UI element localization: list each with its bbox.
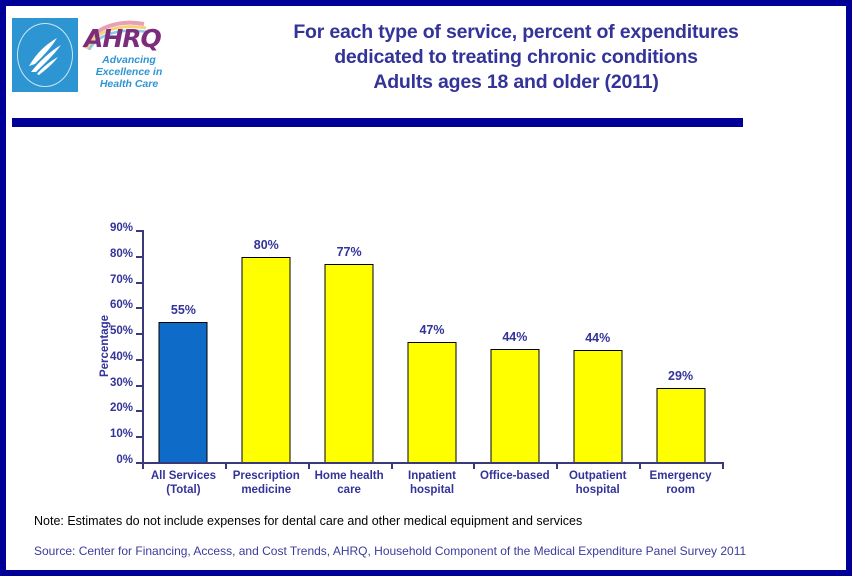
y-tick-label: 30% xyxy=(110,377,133,389)
bar-value-label: 77% xyxy=(337,245,362,259)
ahrq-wordmark: AHRQ Advancing Excellence in Health Care xyxy=(78,18,174,92)
x-tick-mark xyxy=(142,462,144,469)
y-tick-label: 50% xyxy=(110,325,133,337)
bar-value-label: 44% xyxy=(585,331,610,345)
note-text: Note: Estimates do not include expenses … xyxy=(34,514,824,528)
hhs-bird-glyph xyxy=(25,32,65,78)
x-tick-mark xyxy=(225,462,227,469)
x-axis-category-line: room xyxy=(633,484,729,498)
ahrq-tagline: Advancing Excellence in Health Care xyxy=(86,54,172,90)
page-title-line-1: For each type of service, percent of exp… xyxy=(192,20,840,45)
ahrq-tagline-line-2: Excellence in xyxy=(86,66,172,78)
ahrq-logo: AHRQ Advancing Excellence in Health Care xyxy=(12,18,176,98)
x-tick-mark xyxy=(473,462,475,469)
y-tick-label: 70% xyxy=(110,274,133,286)
x-axis-category-label: Prescriptionmedicine xyxy=(218,470,314,497)
page-title-line-3: Adults ages 18 and older (2011) xyxy=(192,70,840,95)
x-axis-line xyxy=(142,462,722,464)
bar[interactable] xyxy=(407,342,456,462)
plot-area: Percentage 0%10%20%30%40%50%60%70%80%90%… xyxy=(142,230,722,462)
bar-group: 44%Outpatienthospital xyxy=(556,230,639,462)
ahrq-acronym: AHRQ xyxy=(84,26,161,51)
hhs-seal-icon xyxy=(12,18,78,92)
bar[interactable] xyxy=(242,257,291,462)
bar-group: 80%Prescriptionmedicine xyxy=(225,230,308,462)
x-axis-category-line: medicine xyxy=(218,484,314,498)
y-tick-label: 20% xyxy=(110,402,133,414)
x-axis-category-line: care xyxy=(301,484,397,498)
x-tick-mark xyxy=(308,462,310,469)
bar-value-label: 55% xyxy=(171,303,196,317)
page-title: For each type of service, percent of exp… xyxy=(192,20,840,95)
x-axis-category-line: (Total) xyxy=(135,484,231,498)
ahrq-tagline-line-3: Health Care xyxy=(86,78,172,90)
bar-group: 29%Emergencyroom xyxy=(639,230,722,462)
x-axis-category-line: Home health xyxy=(301,470,397,484)
x-axis-category-label: Outpatienthospital xyxy=(550,470,646,497)
bar-value-label: 47% xyxy=(419,323,444,337)
x-axis-category-line: Inpatient xyxy=(384,470,480,484)
x-axis-category-line: All Services xyxy=(135,470,231,484)
ahrq-tagline-line-1: Advancing xyxy=(86,54,172,66)
bar[interactable] xyxy=(325,264,374,462)
y-tick-label: 40% xyxy=(110,351,133,363)
x-axis-category-line: hospital xyxy=(550,484,646,498)
x-axis-category-line: Office-based xyxy=(467,470,563,484)
bar[interactable] xyxy=(490,349,539,462)
bar-group: 77%Home healthcare xyxy=(308,230,391,462)
x-axis-category-line: hospital xyxy=(384,484,480,498)
x-tick-mark xyxy=(556,462,558,469)
slide-frame: AHRQ Advancing Excellence in Health Care… xyxy=(0,0,852,576)
x-axis-category-line: Outpatient xyxy=(550,470,646,484)
bar-value-label: 44% xyxy=(502,330,527,344)
bar-group: 47%Inpatienthospital xyxy=(391,230,474,462)
x-tick-mark xyxy=(722,462,724,469)
bar-group: 44%Office-based xyxy=(473,230,556,462)
bar-chart: Percentage 0%10%20%30%40%50%60%70%80%90%… xyxy=(12,136,852,506)
x-axis-category-label: Office-based xyxy=(467,470,563,484)
x-axis-category-label: All Services(Total) xyxy=(135,470,231,497)
y-tick-label: 60% xyxy=(110,299,133,311)
x-axis-category-label: Home healthcare xyxy=(301,470,397,497)
bar[interactable] xyxy=(656,388,705,462)
y-tick-label: 10% xyxy=(110,428,133,440)
y-tick-label: 80% xyxy=(110,248,133,260)
slide-header: AHRQ Advancing Excellence in Health Care… xyxy=(6,6,846,116)
bar[interactable] xyxy=(573,350,622,462)
x-axis-category-label: Inpatienthospital xyxy=(384,470,480,497)
bar[interactable] xyxy=(159,322,208,462)
bar-group: 55%All Services(Total) xyxy=(142,230,225,462)
x-axis-category-line: Emergency xyxy=(633,470,729,484)
x-axis-category-line: Prescription xyxy=(218,470,314,484)
bar-value-label: 29% xyxy=(668,369,693,383)
y-tick-label: 90% xyxy=(110,222,133,234)
x-tick-mark xyxy=(391,462,393,469)
bar-value-label: 80% xyxy=(254,238,279,252)
y-tick-label: 0% xyxy=(116,454,133,466)
source-text: Source: Center for Financing, Access, an… xyxy=(34,544,824,558)
x-tick-mark xyxy=(639,462,641,469)
header-divider xyxy=(12,118,743,127)
page-title-line-2: dedicated to treating chronic conditions xyxy=(192,45,840,70)
x-axis-category-label: Emergencyroom xyxy=(633,470,729,497)
